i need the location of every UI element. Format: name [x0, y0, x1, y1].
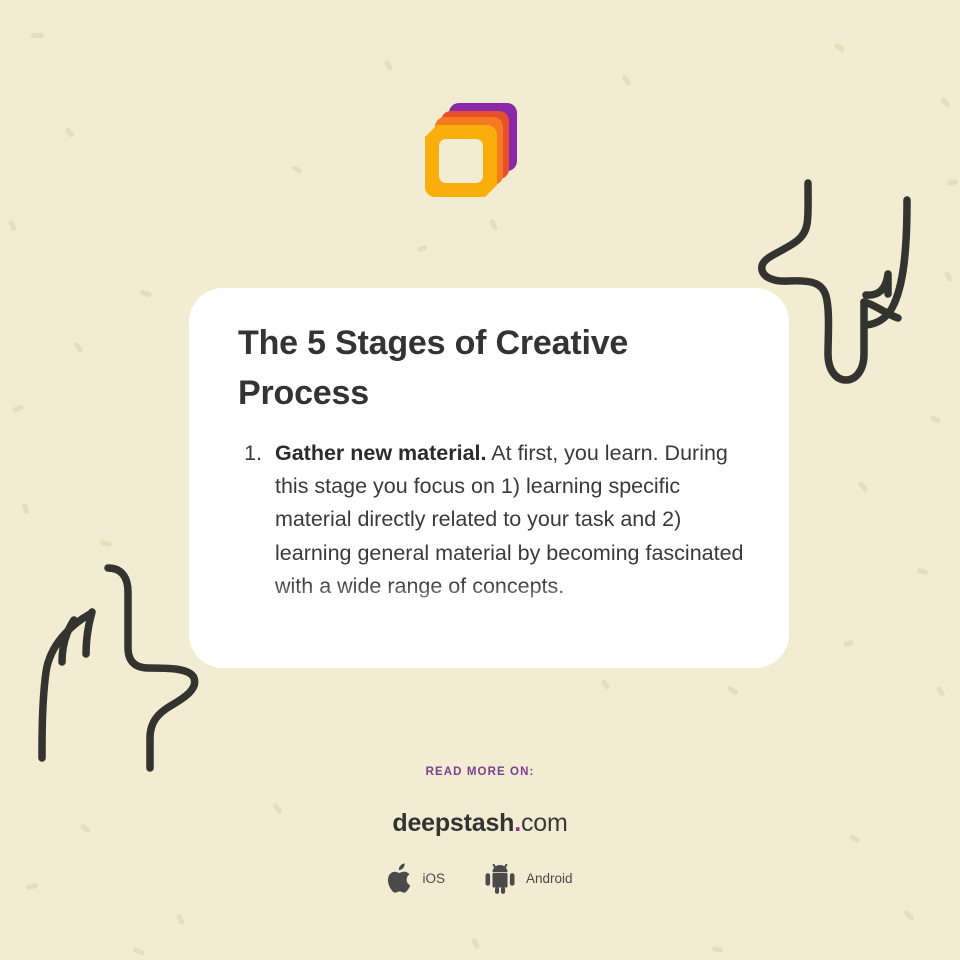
- poster-canvas: The 5 Stages of Creative Process Gather …: [0, 0, 960, 960]
- list-item-lead: Gather new material.: [275, 441, 487, 465]
- brand-tld: com: [521, 809, 568, 837]
- deepstash-logo: [425, 103, 520, 195]
- speck-14: [383, 60, 393, 72]
- speck-21: [944, 270, 954, 282]
- speck-1: [64, 127, 75, 138]
- speck-28: [600, 679, 611, 691]
- speck-23: [857, 480, 869, 492]
- speck-24: [917, 568, 929, 576]
- read-more-label: READ MORE ON:: [0, 766, 960, 778]
- apple-icon: [387, 863, 413, 894]
- brand-dot: .: [514, 809, 521, 837]
- app-store-links: iOS Android: [0, 863, 960, 894]
- stages-list: Gather new material. At first, you learn…: [238, 437, 757, 604]
- speck-18: [834, 42, 846, 53]
- speck-25: [936, 685, 946, 697]
- speck-3: [140, 289, 153, 297]
- speck-11: [133, 947, 146, 956]
- speck-22: [929, 415, 941, 424]
- android-store-link[interactable]: Android: [483, 863, 573, 894]
- android-label: Android: [526, 871, 573, 886]
- speck-6: [21, 502, 29, 514]
- page-title: The 5 Stages of Creative Process: [238, 318, 668, 419]
- list-item: Gather new material. At first, you learn…: [268, 437, 757, 604]
- speck-0: [31, 33, 44, 39]
- card-content: The 5 Stages of Creative Process Gather …: [238, 318, 757, 603]
- speck-32: [470, 938, 480, 950]
- speck-10: [176, 913, 185, 925]
- speck-17: [621, 75, 632, 87]
- brand-name: deepstash: [392, 809, 514, 837]
- speck-13: [291, 165, 302, 174]
- speck-16: [489, 218, 498, 230]
- android-icon: [483, 863, 517, 894]
- pointing-hand-left-icon: [22, 562, 202, 777]
- ios-store-link[interactable]: iOS: [387, 863, 445, 894]
- speck-5: [12, 404, 25, 413]
- speck-19: [940, 97, 951, 108]
- speck-7: [100, 540, 113, 547]
- brand-wordmark[interactable]: deepstash.com: [0, 809, 960, 838]
- speck-30: [903, 909, 915, 921]
- content-card: The 5 Stages of Creative Process Gather …: [189, 288, 789, 668]
- speck-20: [947, 179, 959, 186]
- speck-26: [727, 685, 740, 696]
- speck-31: [712, 946, 724, 953]
- speck-2: [8, 219, 18, 231]
- footer: READ MORE ON: deepstash.com iOS: [0, 766, 960, 894]
- speck-27: [842, 639, 854, 647]
- logo-inner-cutout: [439, 139, 483, 183]
- speck-15: [416, 245, 427, 253]
- speck-4: [73, 342, 83, 354]
- ios-label: iOS: [422, 871, 445, 886]
